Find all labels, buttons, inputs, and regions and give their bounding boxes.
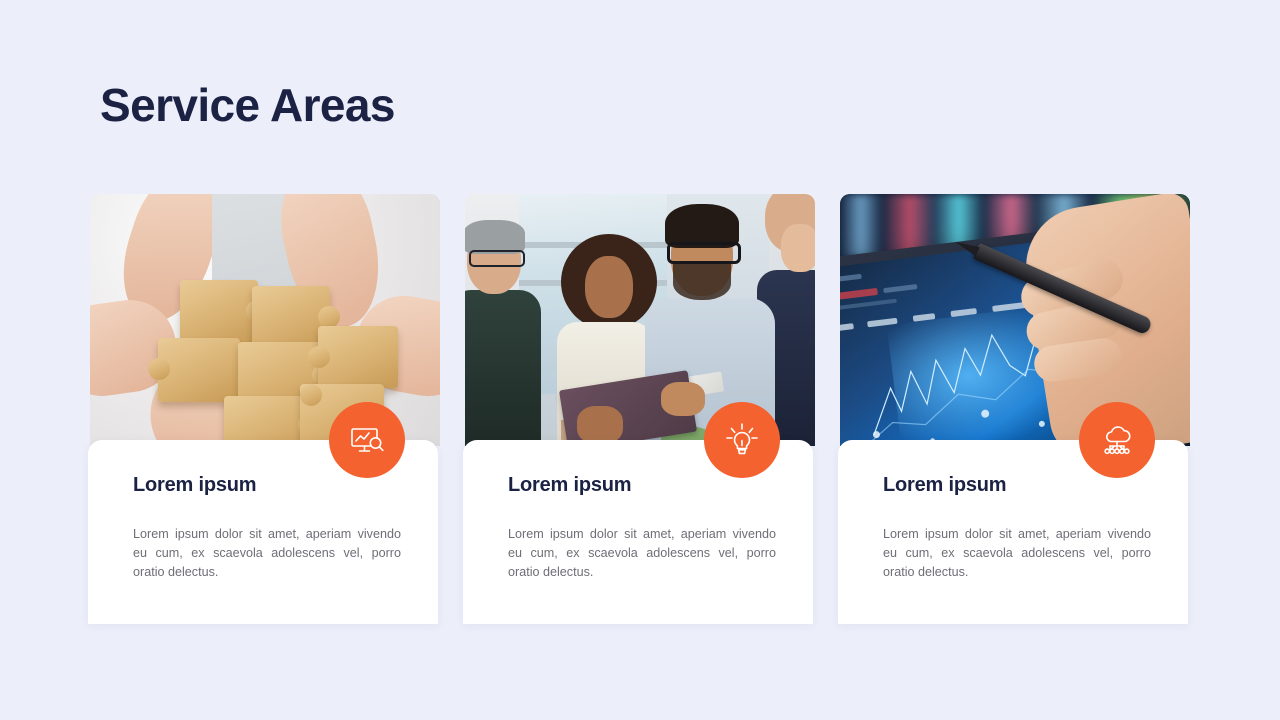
slide-canvas: Service Areas [0,0,1280,720]
service-card[interactable]: Lorem ipsum Lorem ipsum dolor sit amet, … [90,194,440,624]
lightbulb-idea-icon [722,420,762,460]
card-icon-badge[interactable] [329,402,405,478]
card-body-text: Lorem ipsum dolor sit amet, aperiam vive… [508,525,776,582]
card-heading: Lorem ipsum [883,474,1006,497]
page-title: Service Areas [100,78,395,133]
card-heading: Lorem ipsum [508,474,631,497]
card-body-text: Lorem ipsum dolor sit amet, aperiam vive… [133,525,401,582]
card-heading: Lorem ipsum [133,474,256,497]
cloud-network-icon [1097,420,1137,460]
monitor-chart-search-icon [347,420,387,460]
card-icon-badge[interactable] [1079,402,1155,478]
service-cards-row: Lorem ipsum Lorem ipsum dolor sit amet, … [90,194,1190,624]
service-card[interactable]: Lorem ipsum Lorem ipsum dolor sit amet, … [840,194,1190,624]
card-icon-badge[interactable] [704,402,780,478]
service-card[interactable]: Lorem ipsum Lorem ipsum dolor sit amet, … [465,194,815,624]
card-body-text: Lorem ipsum dolor sit amet, aperiam vive… [883,525,1151,582]
